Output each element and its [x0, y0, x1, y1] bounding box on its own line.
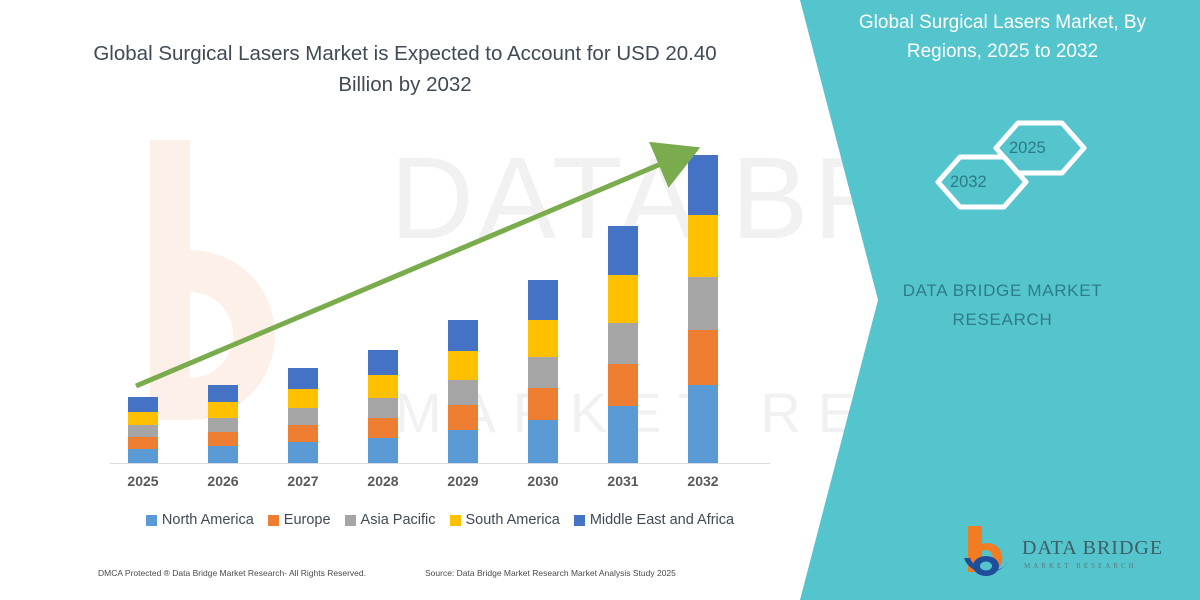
legend-swatch-icon [268, 515, 279, 526]
bar-segment-2026-middle-east-and-africa[interactable] [208, 385, 238, 402]
logo-text-secondary: MARKET RESEARCH [1024, 562, 1137, 570]
x-axis-label-2026: 2026 [188, 473, 258, 489]
bar-segment-2028-middle-east-and-africa[interactable] [368, 350, 398, 375]
legend-item-europe[interactable]: Europe [268, 512, 331, 528]
brand-name: DATA BRIDGE MARKET RESEARCH [830, 276, 1175, 334]
bar-segment-2026-south-america[interactable] [208, 402, 238, 418]
legend-swatch-icon [146, 515, 157, 526]
bar-segment-2030-middle-east-and-africa[interactable] [528, 280, 558, 320]
bar-segment-2032-north-america[interactable] [688, 385, 718, 463]
bar-segment-2032-europe[interactable] [688, 330, 718, 385]
footer-dmca: DMCA Protected ® Data Bridge Market Rese… [98, 568, 366, 578]
bar-segment-2025-middle-east-and-africa[interactable] [128, 397, 158, 412]
legend-swatch-icon [574, 515, 585, 526]
footer-source: Source: Data Bridge Market Research Mark… [425, 568, 676, 578]
bar-segment-2027-europe[interactable] [288, 425, 318, 442]
bar-segment-2025-asia-pacific[interactable] [128, 425, 158, 437]
bar-segment-2027-north-america[interactable] [288, 442, 318, 463]
x-axis-label-2028: 2028 [348, 473, 418, 489]
bar-segment-2029-europe[interactable] [448, 405, 478, 430]
bar-segment-2031-asia-pacific[interactable] [608, 323, 638, 364]
bar-2032[interactable] [688, 155, 718, 463]
bar-segment-2029-south-america[interactable] [448, 351, 478, 380]
bar-2029[interactable] [448, 320, 478, 463]
bar-segment-2030-europe[interactable] [528, 388, 558, 420]
hexagon-label-left: 2032 [950, 173, 987, 192]
x-axis-label-2025: 2025 [108, 473, 178, 489]
legend-label: South America [466, 512, 560, 528]
bar-2027[interactable] [288, 368, 318, 463]
bar-segment-2032-middle-east-and-africa[interactable] [688, 155, 718, 215]
brand-name-line-1: DATA BRIDGE MARKET [830, 276, 1175, 305]
x-axis-line [110, 463, 770, 464]
hexagon-label-right: 2025 [1009, 139, 1046, 158]
brand-name-line-2: RESEARCH [830, 305, 1175, 334]
data-bridge-logo: DATA BRIDGE MARKET RESEARCH [960, 522, 1180, 582]
bar-segment-2025-north-america[interactable] [128, 449, 158, 463]
chart-panel: Global Surgical Lasers Market is Expecte… [0, 0, 880, 600]
bar-segment-2027-asia-pacific[interactable] [288, 408, 318, 425]
x-axis-label-2032: 2032 [668, 473, 738, 489]
legend-item-north-america[interactable]: North America [146, 512, 254, 528]
bar-segment-2025-europe[interactable] [128, 437, 158, 449]
legend-label: Europe [284, 512, 331, 528]
chart-title: Global Surgical Lasers Market is Expecte… [85, 38, 725, 100]
hexagon-badges: 2032 2025 [800, 100, 1200, 230]
bar-segment-2025-south-america[interactable] [128, 412, 158, 425]
bar-segment-2030-asia-pacific[interactable] [528, 357, 558, 388]
legend-item-south-america[interactable]: South America [450, 512, 560, 528]
legend-item-asia-pacific[interactable]: Asia Pacific [345, 512, 436, 528]
legend-label: Middle East and Africa [590, 512, 734, 528]
bar-2031[interactable] [608, 226, 638, 463]
bar-segment-2031-europe[interactable] [608, 364, 638, 406]
bar-segment-2031-north-america[interactable] [608, 406, 638, 463]
bar-segment-2031-middle-east-and-africa[interactable] [608, 226, 638, 275]
logo-text-primary: DATA BRIDGE [1022, 537, 1163, 559]
legend-label: North America [162, 512, 254, 528]
bar-2025[interactable] [128, 397, 158, 463]
bar-2030[interactable] [528, 280, 558, 463]
bar-segment-2029-asia-pacific[interactable] [448, 380, 478, 405]
x-axis-label-2027: 2027 [268, 473, 338, 489]
x-axis-label-2029: 2029 [428, 473, 498, 489]
chart-legend: North AmericaEuropeAsia PacificSouth Ame… [110, 512, 770, 528]
legend-swatch-icon [450, 515, 461, 526]
bar-segment-2030-south-america[interactable] [528, 320, 558, 357]
bar-segment-2031-south-america[interactable] [608, 275, 638, 323]
right-panel-title: Global Surgical Lasers Market, By Region… [830, 8, 1175, 66]
bar-segment-2028-europe[interactable] [368, 418, 398, 438]
legend-label: Asia Pacific [361, 512, 436, 528]
bar-segment-2027-south-america[interactable] [288, 389, 318, 408]
bar-segment-2026-europe[interactable] [208, 432, 238, 446]
bar-segment-2032-asia-pacific[interactable] [688, 277, 718, 330]
bar-segment-2028-south-america[interactable] [368, 375, 398, 398]
bar-2028[interactable] [368, 350, 398, 463]
legend-swatch-icon [345, 515, 356, 526]
legend-item-middle-east-and-africa[interactable]: Middle East and Africa [574, 512, 734, 528]
infographic-root: DATA BRIDGE MARKET RESEARCH Global Surgi… [0, 0, 1200, 600]
bar-segment-2029-middle-east-and-africa[interactable] [448, 320, 478, 351]
bar-segment-2030-north-america[interactable] [528, 420, 558, 463]
bar-segment-2028-north-america[interactable] [368, 438, 398, 463]
bar-segment-2026-north-america[interactable] [208, 446, 238, 463]
bar-segment-2029-north-america[interactable] [448, 430, 478, 463]
bar-segment-2027-middle-east-and-africa[interactable] [288, 368, 318, 389]
bar-segment-2028-asia-pacific[interactable] [368, 398, 398, 418]
bar-segment-2026-asia-pacific[interactable] [208, 418, 238, 432]
bar-segment-2032-south-america[interactable] [688, 215, 718, 277]
bar-2026[interactable] [208, 385, 238, 463]
x-axis-label-2031: 2031 [588, 473, 658, 489]
x-axis-label-2030: 2030 [508, 473, 578, 489]
